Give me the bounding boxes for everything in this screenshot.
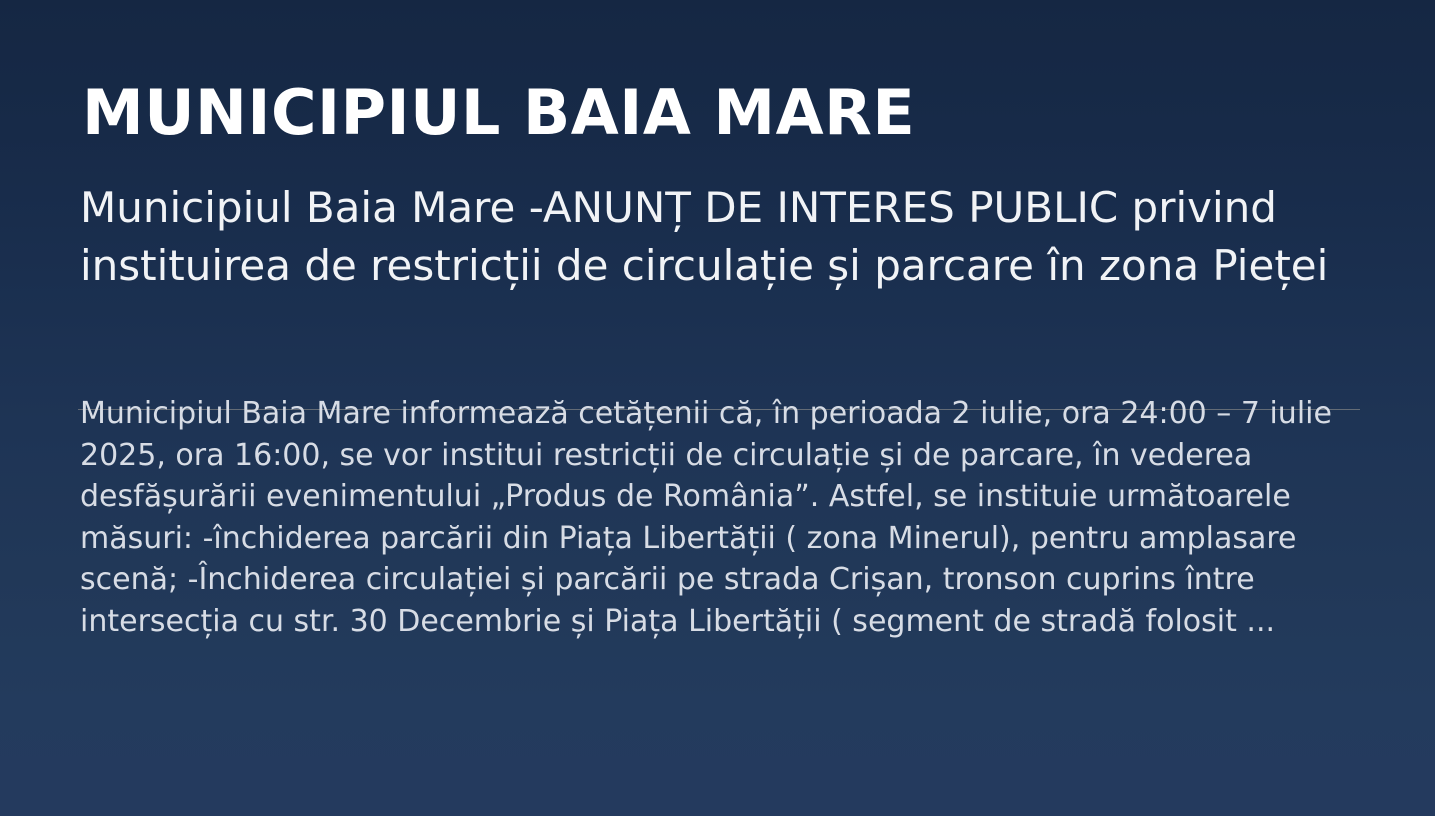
body-text: Municipiul Baia Mare informează cetățeni… (80, 393, 1380, 642)
page-title: MUNICIPIUL BAIA MARE (82, 81, 915, 144)
slide-root: MUNICIPIUL BAIA MARE Municipiul Baia Mar… (0, 0, 1435, 816)
slide-content: MUNICIPIUL BAIA MARE Municipiul Baia Mar… (0, 0, 1435, 816)
page-subtitle: Municipiul Baia Mare -ANUNȚ DE INTERES P… (80, 179, 1390, 295)
